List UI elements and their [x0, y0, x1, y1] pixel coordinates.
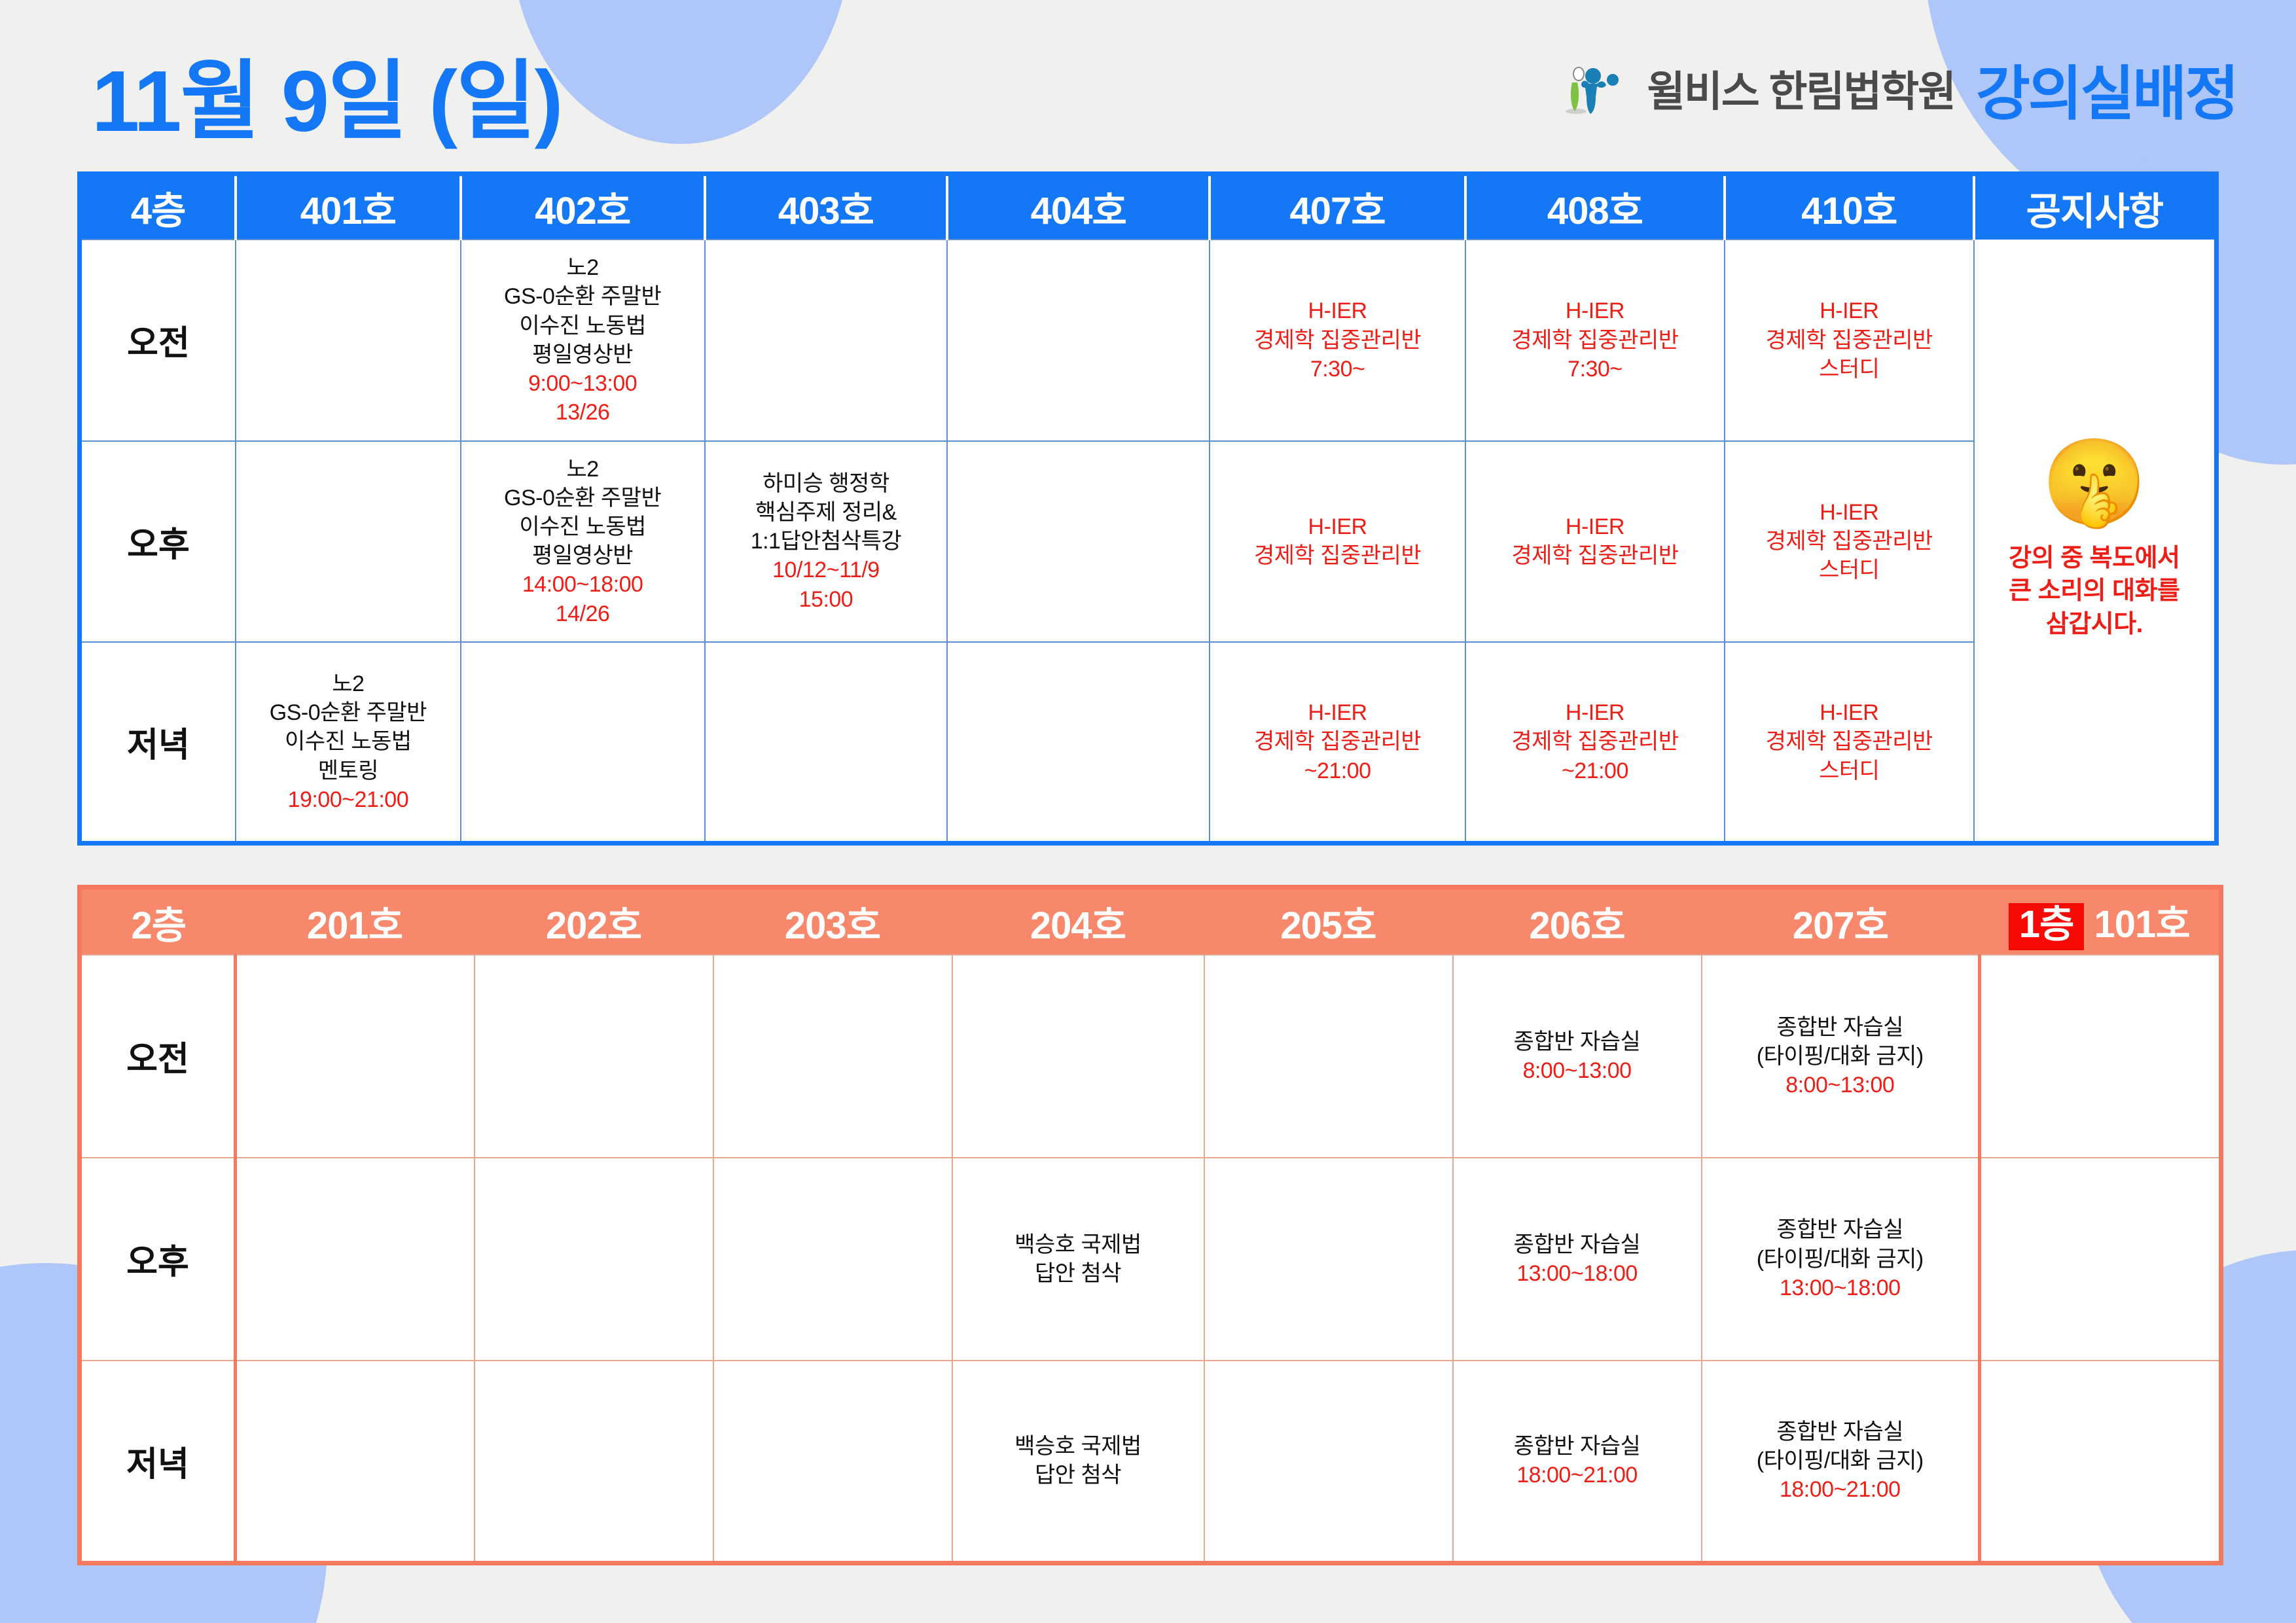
- shushing-face-icon: 🤫: [2041, 440, 2147, 525]
- floor4-header-408: 408호: [1465, 174, 1725, 240]
- cell-line-4: 10/12~11/9: [708, 556, 944, 584]
- cell-line-1: H-IER: [1213, 296, 1462, 325]
- floor1-badge: 1층: [2009, 903, 2085, 950]
- cell-lines: 종합반 자습실(타이핑/대화 금지)8:00~13:00: [1705, 1013, 1976, 1100]
- cell-line-2: 18:00~21:00: [1456, 1461, 1698, 1489]
- notice-line-3: 삼갑시다.: [2009, 608, 2179, 641]
- floor2-cell-205-evening[interactable]: [1204, 1361, 1453, 1563]
- floor2-schedule-table: 2층 201호 202호 203호 204호 205호 206호 207호 1층…: [77, 885, 2223, 1565]
- cell-line-4: 멘토링: [239, 757, 457, 785]
- floor4-cell-404-morning[interactable]: [947, 240, 1210, 441]
- floor1-header-group: 1층 101호: [1980, 887, 2221, 955]
- cell-lines: 노2GS-0순환 주말반이수진 노동법평일영상반14:00~18:0014/26: [464, 455, 702, 628]
- cell-line-3: 7:30~: [1213, 355, 1462, 383]
- cell-line-2: 답안 첨삭: [956, 1259, 1201, 1288]
- cell-line-2: 8:00~13:00: [1456, 1056, 1698, 1085]
- floor4-cell-404-afternoon[interactable]: [947, 441, 1210, 643]
- cell-lines: H-IER경제학 집중관리반~21:00: [1469, 698, 1721, 785]
- floor4-schedule-table: 4층 401호 402호 403호 404호 407호 408호 410호 공지…: [77, 171, 2219, 846]
- floor4-cell-408-evening[interactable]: H-IER경제학 집중관리반~21:00: [1465, 642, 1725, 844]
- floor4-header-410: 410호: [1725, 174, 1974, 240]
- brand-subtitle: 강의실배정: [1976, 46, 2237, 131]
- floor4-rowlabel-morning: 오전: [80, 240, 236, 441]
- floor4-cell-408-afternoon[interactable]: H-IER경제학 집중관리반: [1465, 441, 1725, 643]
- cell-lines: H-IER경제학 집중관리반7:30~: [1469, 296, 1721, 383]
- cell-lines: H-IER경제학 집중관리반: [1213, 512, 1462, 570]
- cell-line-2: 경제학 집중관리반: [1213, 541, 1462, 570]
- floor4-cell-410-morning[interactable]: H-IER경제학 집중관리반스터디: [1725, 240, 1974, 441]
- notice-inner: 🤫 강의 중 복도에서 큰 소리의 대화를 삼갑시다.: [1977, 440, 2212, 640]
- floor4-cell-403-morning[interactable]: [705, 240, 948, 441]
- floor2-header-floor: 2층: [80, 887, 236, 955]
- floor2-cell-201-morning[interactable]: [236, 955, 475, 1158]
- notice-line-2: 큰 소리의 대화를: [2009, 575, 2179, 607]
- cell-line-2: 13:00~18:00: [1456, 1259, 1698, 1288]
- cell-line-2: 핵심주제 정리&: [708, 498, 944, 527]
- cell-lines: 노2GS-0순환 주말반이수진 노동법멘토링19:00~21:00: [239, 669, 457, 814]
- cell-line-1: 노2: [464, 455, 702, 484]
- floor4-notice-cell: 🤫 강의 중 복도에서 큰 소리의 대화를 삼갑시다.: [1974, 240, 2217, 844]
- cell-line-2: (타이핑/대화 금지): [1705, 1446, 1976, 1475]
- cell-line-2: GS-0순환 주말반: [464, 484, 702, 512]
- cell-line-4: 평일영상반: [464, 340, 702, 369]
- cell-lines: 백승호 국제법답안 첨삭: [956, 1432, 1201, 1489]
- cell-lines: 종합반 자습실(타이핑/대화 금지)13:00~18:00: [1705, 1215, 1976, 1302]
- cell-line-1: 종합반 자습실: [1456, 1432, 1698, 1461]
- floor2-header-206: 206호: [1453, 887, 1702, 955]
- cell-line-5: 19:00~21:00: [239, 785, 457, 814]
- cell-line-2: GS-0순환 주말반: [464, 282, 702, 311]
- cell-line-3: ~21:00: [1213, 757, 1462, 785]
- floor4-header-401: 401호: [236, 174, 461, 240]
- cell-lines: H-IER경제학 집중관리반스터디: [1728, 296, 1971, 383]
- floor2-row-morning: 오전 종합반 자습실8:00~13:00 종합반 자습실(타이핑/대화 금지)8…: [80, 955, 2221, 1158]
- floor2-cell-207-afternoon[interactable]: 종합반 자습실(타이핑/대화 금지)13:00~18:00: [1702, 1158, 1980, 1361]
- floor4-header-402: 402호: [461, 174, 705, 240]
- floor4-header-row: 4층 401호 402호 403호 404호 407호 408호 410호 공지…: [80, 174, 2217, 240]
- cell-line-1: H-IER: [1728, 698, 1971, 727]
- cell-line-1: 종합반 자습실: [1705, 1418, 1976, 1446]
- floor4-rowlabel-afternoon: 오후: [80, 441, 236, 643]
- floor4-header-notice: 공지사항: [1974, 174, 2217, 240]
- cell-line-2: (타이핑/대화 금지): [1705, 1245, 1976, 1274]
- floor4-cell-410-evening[interactable]: H-IER경제학 집중관리반스터디: [1725, 642, 1974, 844]
- floor2-row-afternoon: 오후 백승호 국제법답안 첨삭 종합반 자습실13:00~18:00 종합반 자…: [80, 1158, 2221, 1361]
- floor2-rowlabel-afternoon: 오후: [80, 1158, 236, 1361]
- cell-lines: 노2GS-0순환 주말반이수진 노동법평일영상반9:00~13:0013/26: [464, 253, 702, 427]
- floor2-cell-202-morning[interactable]: [475, 955, 713, 1158]
- cell-line-2: 경제학 집중관리반: [1213, 727, 1462, 756]
- cell-lines: H-IER경제학 집중관리반스터디: [1728, 698, 1971, 785]
- floor4-cell-408-morning[interactable]: H-IER경제학 집중관리반7:30~: [1465, 240, 1725, 441]
- floor2-rowlabel-morning: 오전: [80, 955, 236, 1158]
- floor2-header-201: 201호: [236, 887, 475, 955]
- cell-lines: H-IER경제학 집중관리반: [1469, 512, 1721, 570]
- cell-line-1: 노2: [239, 669, 457, 698]
- cell-line-3: 스터디: [1728, 556, 1971, 584]
- floor2-cell-207-morning[interactable]: 종합반 자습실(타이핑/대화 금지)8:00~13:00: [1702, 955, 1980, 1158]
- cell-line-2: 경제학 집중관리반: [1728, 527, 1971, 556]
- floor2-cell-204-evening[interactable]: 백승호 국제법답안 첨삭: [952, 1361, 1204, 1563]
- floor2-cell-205-morning[interactable]: [1204, 955, 1453, 1158]
- cell-lines: H-IER경제학 집중관리반~21:00: [1213, 698, 1462, 785]
- cell-lines: 종합반 자습실8:00~13:00: [1456, 1027, 1698, 1085]
- cell-lines: H-IER경제학 집중관리반스터디: [1728, 498, 1971, 585]
- floor4-cell-402-afternoon[interactable]: 노2GS-0순환 주말반이수진 노동법평일영상반14:00~18:0014/26: [461, 441, 705, 643]
- cell-line-3: 스터디: [1728, 757, 1971, 785]
- cell-line-2: 경제학 집중관리반: [1728, 326, 1971, 355]
- floor2-header-205: 205호: [1204, 887, 1453, 955]
- brand-name: 윌비스 한림법학원: [1647, 58, 1955, 118]
- floor4-header-404: 404호: [947, 174, 1210, 240]
- cell-line-3: ~21:00: [1469, 757, 1721, 785]
- cell-line-1: H-IER: [1469, 512, 1721, 541]
- cell-line-1: 종합반 자습실: [1456, 1027, 1698, 1056]
- floor2-row-evening: 저녁 백승호 국제법답안 첨삭 종합반 자습실18:00~21:00 종합반 자…: [80, 1361, 2221, 1563]
- floor2-header-204: 204호: [952, 887, 1204, 955]
- page-header: 11월 9일 (일) 윌비스 한림법학원 강의실배정: [0, 0, 2296, 164]
- floor4-cell-402-evening[interactable]: [461, 642, 705, 844]
- floor4-cell-401-morning[interactable]: [236, 240, 461, 441]
- cell-line-1: 노2: [464, 253, 702, 282]
- cell-line-3: 스터디: [1728, 355, 1971, 383]
- cell-lines: 종합반 자습실13:00~18:00: [1456, 1230, 1698, 1288]
- cell-line-6: 13/26: [464, 398, 702, 427]
- cell-line-2: GS-0순환 주말반: [239, 698, 457, 727]
- floor4-row-evening: 저녁 노2GS-0순환 주말반이수진 노동법멘토링19:00~21:00 H-I…: [80, 642, 2217, 844]
- cell-lines: 종합반 자습실(타이핑/대화 금지)18:00~21:00: [1705, 1418, 1976, 1505]
- cell-line-5: 9:00~13:00: [464, 369, 702, 398]
- floor4-row-morning: 오전 노2GS-0순환 주말반이수진 노동법평일영상반9:00~13:0013/…: [80, 240, 2217, 441]
- floor4-header-407: 407호: [1210, 174, 1465, 240]
- floor2-cell-203-afternoon[interactable]: [713, 1158, 952, 1361]
- cell-line-1: H-IER: [1728, 498, 1971, 527]
- floor4-header-403: 403호: [705, 174, 948, 240]
- floor2-cell-205-afternoon[interactable]: [1204, 1158, 1453, 1361]
- floor4-cell-404-evening[interactable]: [947, 642, 1210, 844]
- floor2-cell-202-afternoon[interactable]: [475, 1158, 713, 1361]
- floor2-cell-206-morning[interactable]: 종합반 자습실8:00~13:00: [1453, 955, 1702, 1158]
- cell-line-2: 답안 첨삭: [956, 1461, 1201, 1489]
- cell-line-1: H-IER: [1469, 296, 1721, 325]
- floor2-rowlabel-evening: 저녁: [80, 1361, 236, 1563]
- cell-line-2: 경제학 집중관리반: [1728, 727, 1971, 756]
- floor2-cell-201-afternoon[interactable]: [236, 1158, 475, 1361]
- cell-lines: 백승호 국제법답안 첨삭: [956, 1230, 1201, 1288]
- schedule-page: 11월 9일 (일) 윌비스 한림법학원 강의실배정 4층 401호: [0, 0, 2296, 1623]
- floor1-cell-101-afternoon[interactable]: [1980, 1158, 2221, 1361]
- floor4-row-afternoon: 오후 노2GS-0순환 주말반이수진 노동법평일영상반14:00~18:0014…: [80, 441, 2217, 643]
- floor1-cell-101-morning[interactable]: [1980, 955, 2221, 1158]
- floor2-cell-203-morning[interactable]: [713, 955, 952, 1158]
- floor2-cell-207-evening[interactable]: 종합반 자습실(타이핑/대화 금지)18:00~21:00: [1702, 1361, 1980, 1563]
- floor4-cell-407-morning[interactable]: H-IER경제학 집중관리반7:30~: [1210, 240, 1465, 441]
- cell-line-3: 이수진 노동법: [464, 312, 702, 340]
- cell-lines: H-IER경제학 집중관리반7:30~: [1213, 296, 1462, 383]
- cell-line-1: 백승호 국제법: [956, 1230, 1201, 1259]
- floor2-header-207: 207호: [1702, 887, 1980, 955]
- cell-line-1: H-IER: [1469, 698, 1721, 727]
- cell-line-4: 평일영상반: [464, 541, 702, 570]
- cell-line-3: 8:00~13:00: [1705, 1071, 1976, 1099]
- cell-line-1: H-IER: [1728, 296, 1971, 325]
- floor2-cell-203-evening[interactable]: [713, 1361, 952, 1563]
- cell-line-2: 경제학 집중관리반: [1469, 326, 1721, 355]
- floor4-cell-407-evening[interactable]: H-IER경제학 집중관리반~21:00: [1210, 642, 1465, 844]
- floor4-cell-401-afternoon[interactable]: [236, 441, 461, 643]
- floor4-cell-402-morning[interactable]: 노2GS-0순환 주말반이수진 노동법평일영상반9:00~13:0013/26: [461, 240, 705, 441]
- floor4-cell-403-afternoon[interactable]: 하미승 행정학핵심주제 정리&1:1답안첨삭특강10/12~11/915:00: [705, 441, 948, 643]
- cell-line-5: 14:00~18:00: [464, 570, 702, 599]
- cell-line-5: 15:00: [708, 585, 944, 614]
- cell-line-3: 7:30~: [1469, 355, 1721, 383]
- cell-line-3: 이수진 노동법: [239, 727, 457, 756]
- cell-line-1: 하미승 행정학: [708, 469, 944, 498]
- floor4-rowlabel-evening: 저녁: [80, 642, 236, 844]
- cell-line-2: 경제학 집중관리반: [1469, 541, 1721, 570]
- floor4-cell-403-evening[interactable]: [705, 642, 948, 844]
- floor2-cell-201-evening[interactable]: [236, 1361, 475, 1563]
- people-logo-icon: [1563, 60, 1635, 116]
- floor4-header-floor: 4층: [80, 174, 236, 240]
- cell-line-1: 종합반 자습실: [1705, 1215, 1976, 1244]
- floor1-header-101: 101호: [2094, 903, 2190, 946]
- floor2-cell-206-afternoon[interactable]: 종합반 자습실13:00~18:00: [1453, 1158, 1702, 1361]
- notice-line-1: 강의 중 복도에서: [2009, 542, 2179, 575]
- cell-line-2: (타이핑/대화 금지): [1705, 1042, 1976, 1071]
- floor4-cell-401-evening[interactable]: 노2GS-0순환 주말반이수진 노동법멘토링19:00~21:00: [236, 642, 461, 844]
- page-title: 11월 9일 (일): [92, 31, 562, 156]
- cell-lines: 종합반 자습실18:00~21:00: [1456, 1432, 1698, 1489]
- cell-line-1: 종합반 자습실: [1705, 1013, 1976, 1042]
- cell-line-2: 경제학 집중관리반: [1469, 727, 1721, 756]
- cell-line-3: 18:00~21:00: [1705, 1475, 1976, 1504]
- floor2-header-203: 203호: [713, 887, 952, 955]
- cell-line-1: H-IER: [1213, 698, 1462, 727]
- cell-line-6: 14/26: [464, 599, 702, 628]
- floor4-cell-410-afternoon[interactable]: H-IER경제학 집중관리반스터디: [1725, 441, 1974, 643]
- cell-line-1: 종합반 자습실: [1456, 1230, 1698, 1259]
- floor2-cell-204-afternoon[interactable]: 백승호 국제법답안 첨삭: [952, 1158, 1204, 1361]
- notice-text: 강의 중 복도에서 큰 소리의 대화를 삼갑시다.: [2009, 542, 2179, 640]
- cell-line-3: 이수진 노동법: [464, 512, 702, 541]
- cell-line-1: 백승호 국제법: [956, 1432, 1201, 1461]
- floor2-cell-202-evening[interactable]: [475, 1361, 713, 1563]
- cell-line-2: 경제학 집중관리반: [1213, 326, 1462, 355]
- floor2-cell-204-morning[interactable]: [952, 955, 1204, 1158]
- floor1-cell-101-evening[interactable]: [1980, 1361, 2221, 1563]
- floor2-header-row: 2층 201호 202호 203호 204호 205호 206호 207호 1층…: [80, 887, 2221, 955]
- floor2-cell-206-evening[interactable]: 종합반 자습실18:00~21:00: [1453, 1361, 1702, 1563]
- brand-block: 윌비스 한림법학원 강의실배정: [1563, 46, 2237, 131]
- cell-line-3: 13:00~18:00: [1705, 1274, 1976, 1302]
- cell-line-1: H-IER: [1213, 512, 1462, 541]
- cell-line-3: 1:1답안첨삭특강: [708, 527, 944, 556]
- floor2-header-202: 202호: [475, 887, 713, 955]
- cell-lines: 하미승 행정학핵심주제 정리&1:1답안첨삭특강10/12~11/915:00: [708, 469, 944, 614]
- floor4-cell-407-afternoon[interactable]: H-IER경제학 집중관리반: [1210, 441, 1465, 643]
